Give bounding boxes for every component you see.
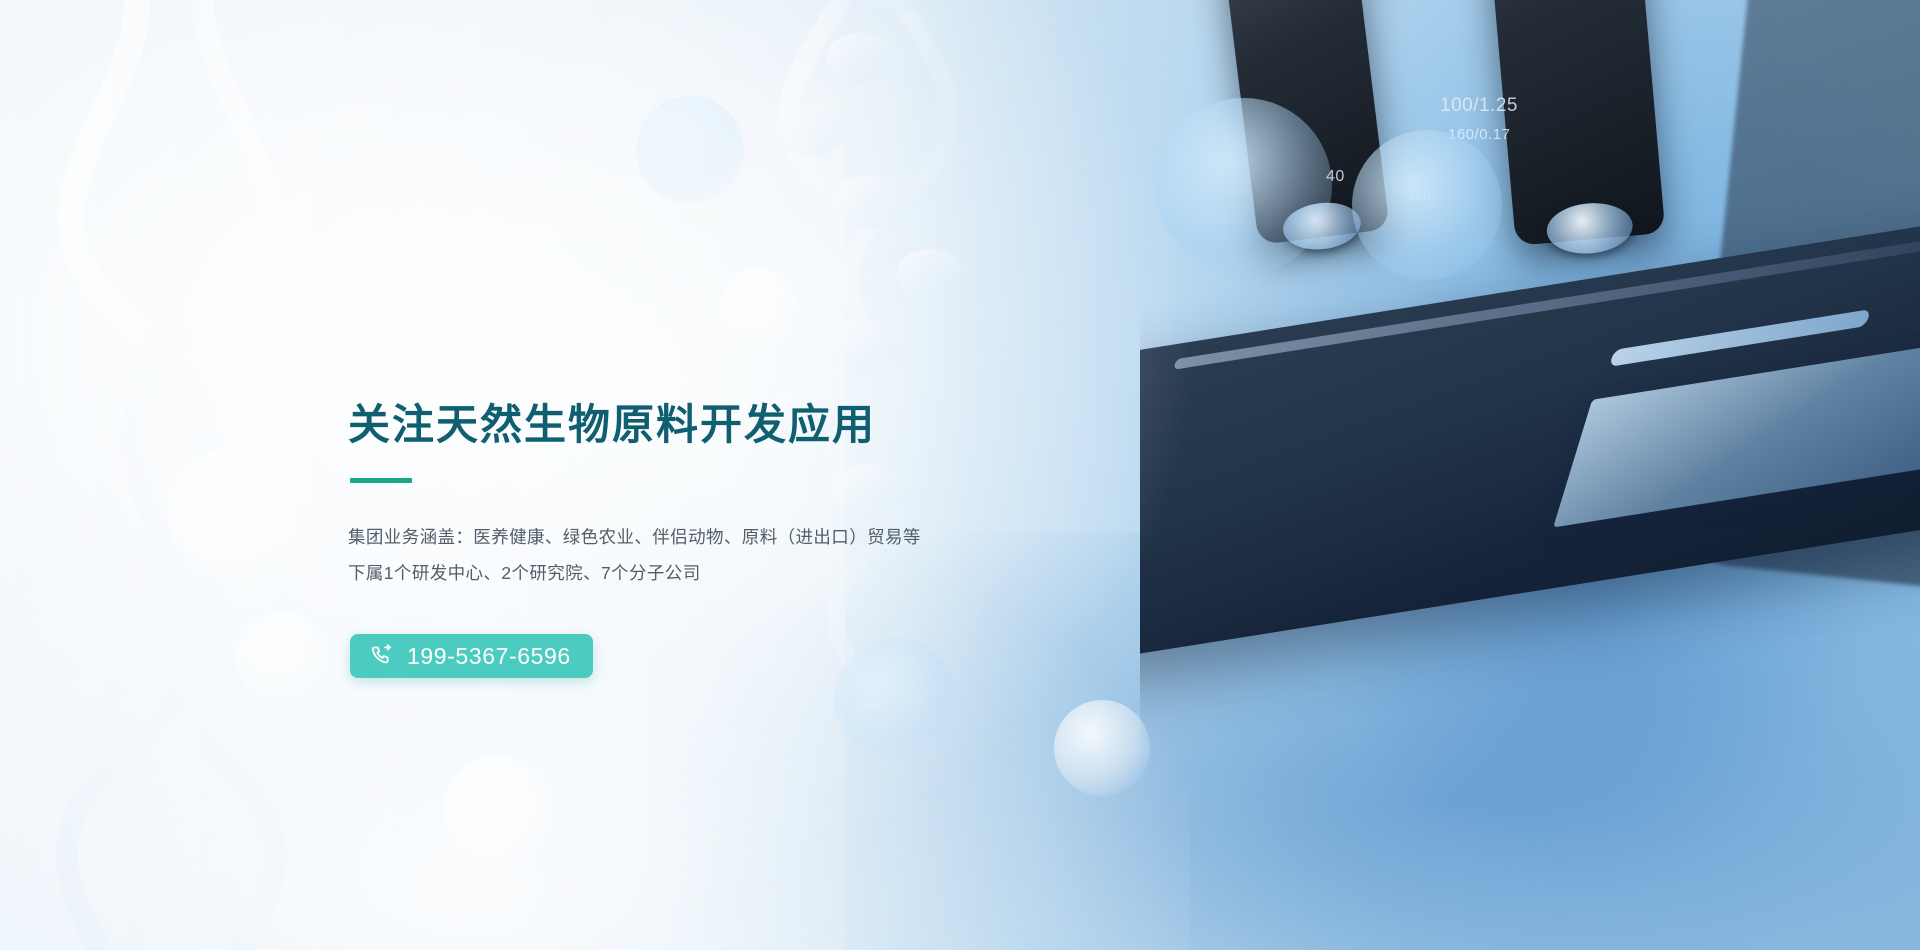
scope-marking-power-40: 40 bbox=[1326, 168, 1345, 186]
hero-banner: 100/1.25 160/0.17 40 100 bbox=[0, 0, 1920, 950]
scope-marking-power-100: 100 bbox=[1408, 188, 1431, 203]
subtitle-line-2: 下属1个研发中心、2个研究院、7个分子公司 bbox=[348, 555, 1048, 592]
phone-cta-button[interactable]: 199-5367-6596 bbox=[350, 634, 593, 678]
scope-marking-magnification: 100/1.25 bbox=[1440, 95, 1518, 117]
page-title: 关注天然生物原料开发应用 bbox=[348, 400, 1048, 450]
title-divider bbox=[350, 478, 412, 483]
microscope-focus-knob bbox=[1650, 630, 1880, 860]
scope-marking-aperture: 160/0.17 bbox=[1448, 126, 1510, 143]
hero-content: 关注天然生物原料开发应用 集团业务涵盖：医养健康、绿色农业、伴侣动物、原料（进出… bbox=[348, 400, 1048, 678]
microscope-photo: 100/1.25 160/0.17 40 100 bbox=[1140, 0, 1920, 950]
phone-forward-icon bbox=[369, 644, 394, 669]
hero-subtitle: 集团业务涵盖：医养健康、绿色农业、伴侣动物、原料（进出口）贸易等 下属1个研发中… bbox=[348, 519, 1048, 593]
subtitle-line-1: 集团业务涵盖：医养健康、绿色农业、伴侣动物、原料（进出口）贸易等 bbox=[348, 519, 1048, 556]
phone-number-label: 199-5367-6596 bbox=[407, 643, 571, 670]
